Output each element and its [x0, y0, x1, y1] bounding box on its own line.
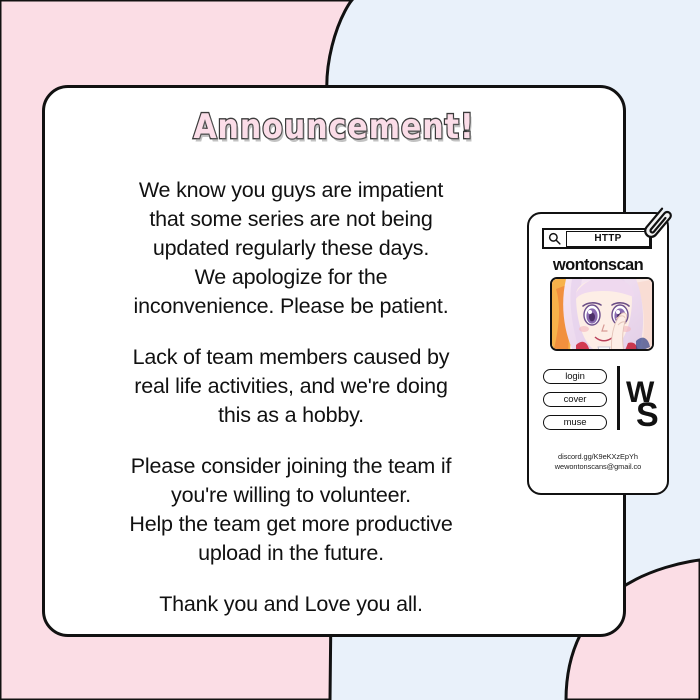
- profile-card: HTTP wontonscan: [527, 212, 669, 495]
- announcement-paragraph: Please consider joining the team if you'…: [71, 452, 511, 568]
- contact-discord[interactable]: discord.gg/K9eKXzEpYh: [529, 452, 667, 462]
- contact-email[interactable]: wewontonscans@gmail.co: [529, 462, 667, 472]
- announcement-paragraph: Lack of team members caused by real life…: [71, 343, 511, 430]
- contact-info: discord.gg/K9eKXzEpYh wewontonscans@gmai…: [529, 452, 667, 472]
- page-title: Announcement!: [45, 108, 623, 147]
- link-pill-label: muse: [564, 418, 587, 428]
- link-pill-label: cover: [564, 395, 587, 405]
- link-pill-cover[interactable]: cover: [543, 392, 607, 407]
- announcement-body: We know you guys are impatient that some…: [71, 176, 511, 619]
- profile-name: wontonscan: [529, 256, 667, 275]
- announcement-paragraph: Thank you and Love you all.: [71, 590, 511, 619]
- search-input-value: HTTP: [594, 234, 621, 244]
- svg-text:S: S: [636, 396, 659, 432]
- link-pill-label: login: [565, 372, 585, 382]
- ws-monogram-icon: W S: [624, 372, 666, 432]
- paperclip-icon: [635, 202, 679, 246]
- logo-divider: [617, 366, 620, 430]
- link-list: login cover muse: [543, 369, 607, 438]
- link-pill-login[interactable]: login: [543, 369, 607, 384]
- link-pill-muse[interactable]: muse: [543, 415, 607, 430]
- search-icon: [548, 232, 561, 245]
- announcement-paragraph: We know you guys are impatient that some…: [71, 176, 511, 321]
- anime-portrait: [550, 277, 654, 351]
